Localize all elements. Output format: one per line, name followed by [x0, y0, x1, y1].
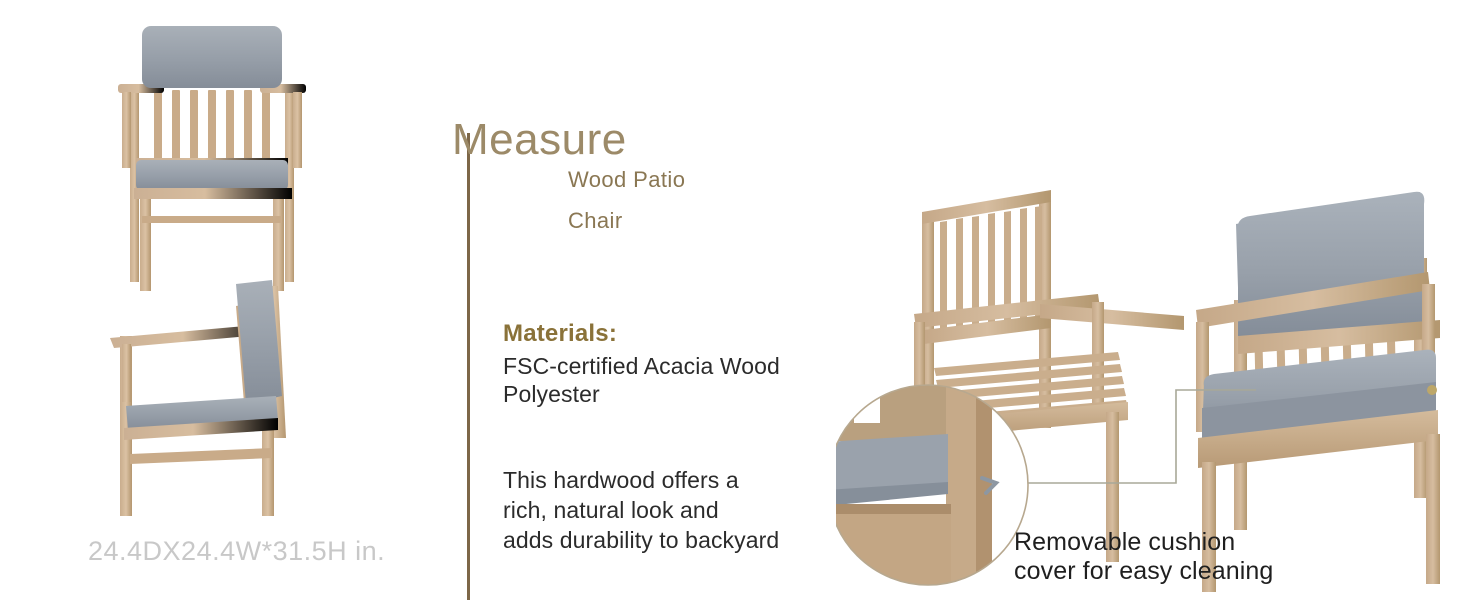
materials-heading: Materials:: [503, 320, 780, 348]
chair-front-svg: [92, 8, 332, 298]
lifestyle-scene: [836, 90, 1464, 600]
chair-side-svg: [86, 278, 336, 533]
callout-line-2: cover for easy cleaning: [1014, 557, 1314, 586]
product-image-front-view: [92, 8, 332, 298]
subtitle-line-1: Wood Patio: [568, 160, 685, 201]
callout-line-1: Removable cushion: [1014, 528, 1314, 557]
subtitle-line-2: Chair: [568, 201, 685, 242]
product-subtitle: Wood Patio Chair: [568, 160, 685, 241]
vertical-divider-line: [467, 133, 470, 600]
product-image-side-view: [86, 278, 336, 533]
scene-svg: [836, 90, 1464, 600]
materials-line-2: Polyester: [503, 380, 780, 408]
materials-section: Materials: FSC-certified Acacia Wood Pol…: [503, 320, 780, 408]
description-line-2: rich, natural look and: [503, 496, 833, 526]
infographic-canvas: 24.4DX24.4W*31.5H in. Measure Wood Patio…: [0, 0, 1464, 600]
description-line-1: This hardwood offers a: [503, 466, 833, 496]
description-text: This hardwood offers a rich, natural loo…: [503, 466, 833, 556]
description-line-3: adds durability to backyard: [503, 526, 833, 556]
materials-line-1: FSC-certified Acacia Wood: [503, 352, 780, 380]
page-title: Measure: [452, 118, 627, 162]
feature-callout-text: Removable cushion cover for easy cleanin…: [1014, 528, 1314, 586]
dimensions-label: 24.4DX24.4W*31.5H in.: [88, 536, 428, 567]
